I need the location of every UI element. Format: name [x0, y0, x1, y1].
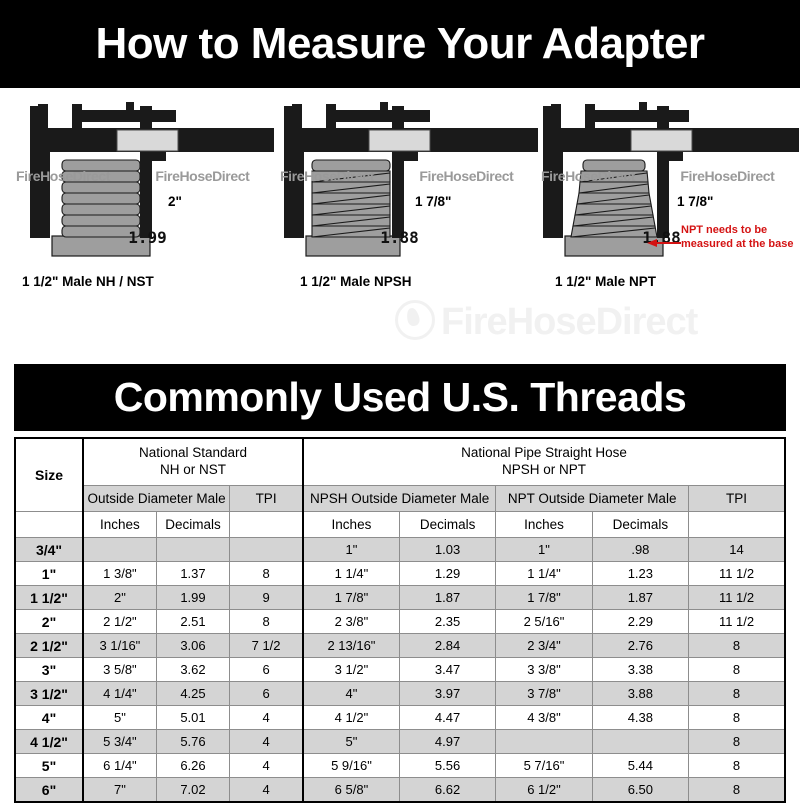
- cell-size: 2": [15, 610, 83, 634]
- brand-watermark-text: FireHoseDirect: [441, 301, 697, 343]
- cell-nh-tpi: 8: [230, 610, 303, 634]
- cell-size: 2 1/2": [15, 634, 83, 658]
- header-group-national-standard: National Standard NH or NST: [83, 438, 303, 486]
- page-title-banner: How to Measure Your Adapter: [0, 0, 800, 88]
- npt-note-arrow-icon: [647, 237, 683, 249]
- cell-npt-inches: [496, 730, 592, 754]
- table-header-row-sub: Outside Diameter Male TPI NPSH Outside D…: [15, 486, 785, 512]
- diagram-caption: 1 1/2" Male NPSH: [280, 274, 558, 289]
- cell-npt-tpi: 8: [689, 778, 785, 803]
- cell-npt-decimals: 5.44: [592, 754, 688, 778]
- header-npt-od-male: NPT Outside Diameter Male: [496, 486, 689, 512]
- header-nh-tpi: TPI: [230, 486, 303, 512]
- table-row: 6"7"7.0246 5/8"6.626 1/2"6.508: [15, 778, 785, 803]
- cell-size: 1": [15, 562, 83, 586]
- cell-npsh-inches: 4": [303, 682, 399, 706]
- cell-nh-inches: 3 1/16": [83, 634, 156, 658]
- cell-npt-inches: 6 1/2": [496, 778, 592, 803]
- header-nh-decimals: Decimals: [156, 512, 229, 538]
- header-npt-decimals: Decimals: [592, 512, 688, 538]
- cell-npt-inches: 3 7/8": [496, 682, 592, 706]
- cell-nh-tpi: 4: [230, 778, 303, 803]
- threads-table-title: Commonly Used U.S. Threads: [114, 374, 687, 420]
- cell-npsh-decimals: 6.62: [399, 778, 495, 803]
- cell-npsh-decimals: 3.97: [399, 682, 495, 706]
- cell-npsh-inches: 1": [303, 538, 399, 562]
- table-row: 2 1/2"3 1/16"3.067 1/22 13/16"2.842 3/4"…: [15, 634, 785, 658]
- cell-npsh-inches: 5": [303, 730, 399, 754]
- cell-size: 1 1/2": [15, 586, 83, 610]
- cell-nh-tpi: [230, 538, 303, 562]
- cell-npsh-inches: 2 3/8": [303, 610, 399, 634]
- cell-npt-inches: 2 3/4": [496, 634, 592, 658]
- cell-npsh-decimals: 4.47: [399, 706, 495, 730]
- threads-table-banner: Commonly Used U.S. Threads: [14, 364, 786, 431]
- cell-npt-decimals: 2.29: [592, 610, 688, 634]
- table-row: 1"1 3/8"1.3781 1/4"1.291 1/4"1.2311 1/2: [15, 562, 785, 586]
- cell-npt-tpi: 8: [689, 706, 785, 730]
- cell-npt-tpi: 14: [689, 538, 785, 562]
- table-row: 4 1/2"5 3/4"5.7645"4.978: [15, 730, 785, 754]
- cell-npt-decimals: 6.50: [592, 778, 688, 803]
- cell-nh-inches: 7": [83, 778, 156, 803]
- cell-npsh-inches: 1 7/8": [303, 586, 399, 610]
- measurement-label: 1 7/8": [677, 194, 713, 209]
- cell-npt-decimals: .98: [592, 538, 688, 562]
- cell-nh-inches: 4 1/4": [83, 682, 156, 706]
- table-row: 4"5"5.0144 1/2"4.474 3/8"4.388: [15, 706, 785, 730]
- header-group-national-pipe-straight-hose: National Pipe Straight Hose NPSH or NPT: [303, 438, 785, 486]
- cell-nh-inches: [83, 538, 156, 562]
- cell-nh-decimals: 3.06: [156, 634, 229, 658]
- cell-npsh-decimals: 2.35: [399, 610, 495, 634]
- cell-npt-decimals: 2.76: [592, 634, 688, 658]
- cell-nh-inches: 2 1/2": [83, 610, 156, 634]
- header-npsh-decimals: Decimals: [399, 512, 495, 538]
- caliper-illustration-nh-nst: [16, 96, 274, 276]
- cell-npt-tpi: 11 1/2: [689, 562, 785, 586]
- cell-nh-decimals: 3.62: [156, 658, 229, 682]
- caliper-diagram-npt: FireHoseDirect FireHoseDirect 1.88 1 7/8…: [541, 96, 799, 296]
- cell-nh-inches: 5 3/4": [83, 730, 156, 754]
- header-nh-inches: Inches: [83, 512, 156, 538]
- cell-size: 3 1/2": [15, 682, 83, 706]
- cell-npt-inches: 2 5/16": [496, 610, 592, 634]
- header-npt-tpi-blank: [689, 512, 785, 538]
- cell-npsh-decimals: 1.29: [399, 562, 495, 586]
- cell-nh-decimals: 5.76: [156, 730, 229, 754]
- cell-nh-tpi: 8: [230, 562, 303, 586]
- cell-size: 6": [15, 778, 83, 803]
- threads-reference-table: Size National Standard NH or NST Nationa…: [14, 437, 786, 803]
- cell-npsh-decimals: 1.03: [399, 538, 495, 562]
- cell-nh-decimals: [156, 538, 229, 562]
- cell-npsh-inches: 2 13/16": [303, 634, 399, 658]
- cell-nh-inches: 5": [83, 706, 156, 730]
- cell-nh-tpi: 4: [230, 730, 303, 754]
- header-npsh-od-male: NPSH Outside Diameter Male: [303, 486, 496, 512]
- diagram-caption: 1 1/2" Male NPT: [541, 274, 800, 289]
- cell-npsh-decimals: 1.87: [399, 586, 495, 610]
- cell-npt-tpi: 11 1/2: [689, 586, 785, 610]
- cell-npt-tpi: 8: [689, 634, 785, 658]
- cell-nh-tpi: 9: [230, 586, 303, 610]
- cell-npt-tpi: 8: [689, 658, 785, 682]
- cell-npsh-inches: 5 9/16": [303, 754, 399, 778]
- cell-npsh-decimals: 2.84: [399, 634, 495, 658]
- cell-npsh-inches: 3 1/2": [303, 658, 399, 682]
- cell-nh-inches: 6 1/4": [83, 754, 156, 778]
- cell-size: 4": [15, 706, 83, 730]
- cell-nh-decimals: 4.25: [156, 682, 229, 706]
- header-npt-tpi: TPI: [689, 486, 785, 512]
- table-header-row-units: Inches Decimals Inches Decimals Inches D…: [15, 512, 785, 538]
- table-row: 5"6 1/4"6.2645 9/16"5.565 7/16"5.448: [15, 754, 785, 778]
- cell-nh-decimals: 1.99: [156, 586, 229, 610]
- table-header: Size National Standard NH or NST Nationa…: [15, 438, 785, 538]
- cell-npt-tpi: 8: [689, 730, 785, 754]
- table-row: 3"3 5/8"3.6263 1/2"3.473 3/8"3.388: [15, 658, 785, 682]
- cell-nh-tpi: 4: [230, 754, 303, 778]
- header-unit-blank: [15, 512, 83, 538]
- cell-npsh-decimals: 5.56: [399, 754, 495, 778]
- cell-size: 3/4": [15, 538, 83, 562]
- cell-nh-inches: 1 3/8": [83, 562, 156, 586]
- caliper-illustration-npsh: [280, 96, 538, 276]
- table-row: 3/4"1"1.031".9814: [15, 538, 785, 562]
- header-nh-tpi-blank: [230, 512, 303, 538]
- cell-npsh-decimals: 3.47: [399, 658, 495, 682]
- header-npsh-inches: Inches: [303, 512, 399, 538]
- cell-npt-inches: 1 1/4": [496, 562, 592, 586]
- cell-npt-tpi: 11 1/2: [689, 610, 785, 634]
- table-body: 3/4"1"1.031".98141"1 3/8"1.3781 1/4"1.29…: [15, 538, 785, 803]
- header-npt-inches: Inches: [496, 512, 592, 538]
- cell-npt-decimals: 3.88: [592, 682, 688, 706]
- cell-size: 5": [15, 754, 83, 778]
- cell-npt-decimals: 3.38: [592, 658, 688, 682]
- header-nh-od-male: Outside Diameter Male: [83, 486, 230, 512]
- cell-nh-decimals: 5.01: [156, 706, 229, 730]
- measurement-label: 1 7/8": [415, 194, 451, 209]
- cell-nh-tpi: 4: [230, 706, 303, 730]
- cell-npt-inches: 5 7/16": [496, 754, 592, 778]
- cell-nh-decimals: 7.02: [156, 778, 229, 803]
- page-title: How to Measure Your Adapter: [95, 19, 704, 68]
- cell-nh-decimals: 2.51: [156, 610, 229, 634]
- cell-nh-inches: 3 5/8": [83, 658, 156, 682]
- cell-size: 4 1/2": [15, 730, 83, 754]
- cell-nh-tpi: 6: [230, 682, 303, 706]
- cell-nh-tpi: 6: [230, 658, 303, 682]
- measurement-label: 2": [168, 194, 182, 209]
- flame-logo-icon: [395, 300, 435, 340]
- cell-npsh-inches: 4 1/2": [303, 706, 399, 730]
- header-size: Size: [15, 438, 83, 512]
- table-row: 2"2 1/2"2.5182 3/8"2.352 5/16"2.2911 1/2: [15, 610, 785, 634]
- cell-npt-tpi: 8: [689, 754, 785, 778]
- caliper-display-reading: 1.99: [117, 227, 178, 248]
- npt-measurement-note: NPT needs to be measured at the base: [681, 224, 794, 252]
- table-row: 1 1/2"2"1.9991 7/8"1.871 7/8"1.8711 1/2: [15, 586, 785, 610]
- caliper-diagram-npsh: FireHoseDirect FireHoseDirect 1.88 1 7/8…: [280, 96, 538, 296]
- cell-npt-decimals: 1.23: [592, 562, 688, 586]
- cell-npt-decimals: 1.87: [592, 586, 688, 610]
- cell-npsh-inches: 6 5/8": [303, 778, 399, 803]
- cell-npt-inches: 1": [496, 538, 592, 562]
- table-row: 3 1/2"4 1/4"4.2564"3.973 7/8"3.888: [15, 682, 785, 706]
- cell-npt-tpi: 8: [689, 682, 785, 706]
- caliper-display-reading: 1.88: [369, 227, 430, 248]
- cell-nh-decimals: 1.37: [156, 562, 229, 586]
- cell-nh-inches: 2": [83, 586, 156, 610]
- cell-npsh-decimals: 4.97: [399, 730, 495, 754]
- cell-nh-tpi: 7 1/2: [230, 634, 303, 658]
- cell-npt-decimals: [592, 730, 688, 754]
- brand-watermark: FireHoseDirect: [395, 300, 697, 344]
- cell-npsh-inches: 1 1/4": [303, 562, 399, 586]
- cell-size: 3": [15, 658, 83, 682]
- cell-npt-decimals: 4.38: [592, 706, 688, 730]
- cell-npt-inches: 1 7/8": [496, 586, 592, 610]
- cell-nh-decimals: 6.26: [156, 754, 229, 778]
- table-header-row-group: Size National Standard NH or NST Nationa…: [15, 438, 785, 486]
- caliper-diagram-nh-nst: FireHoseDirect FireHoseDirect 1.99 2" 1 …: [16, 96, 274, 296]
- cell-npt-inches: 3 3/8": [496, 658, 592, 682]
- diagram-caption: 1 1/2" Male NH / NST: [16, 274, 280, 289]
- cell-npt-inches: 4 3/8": [496, 706, 592, 730]
